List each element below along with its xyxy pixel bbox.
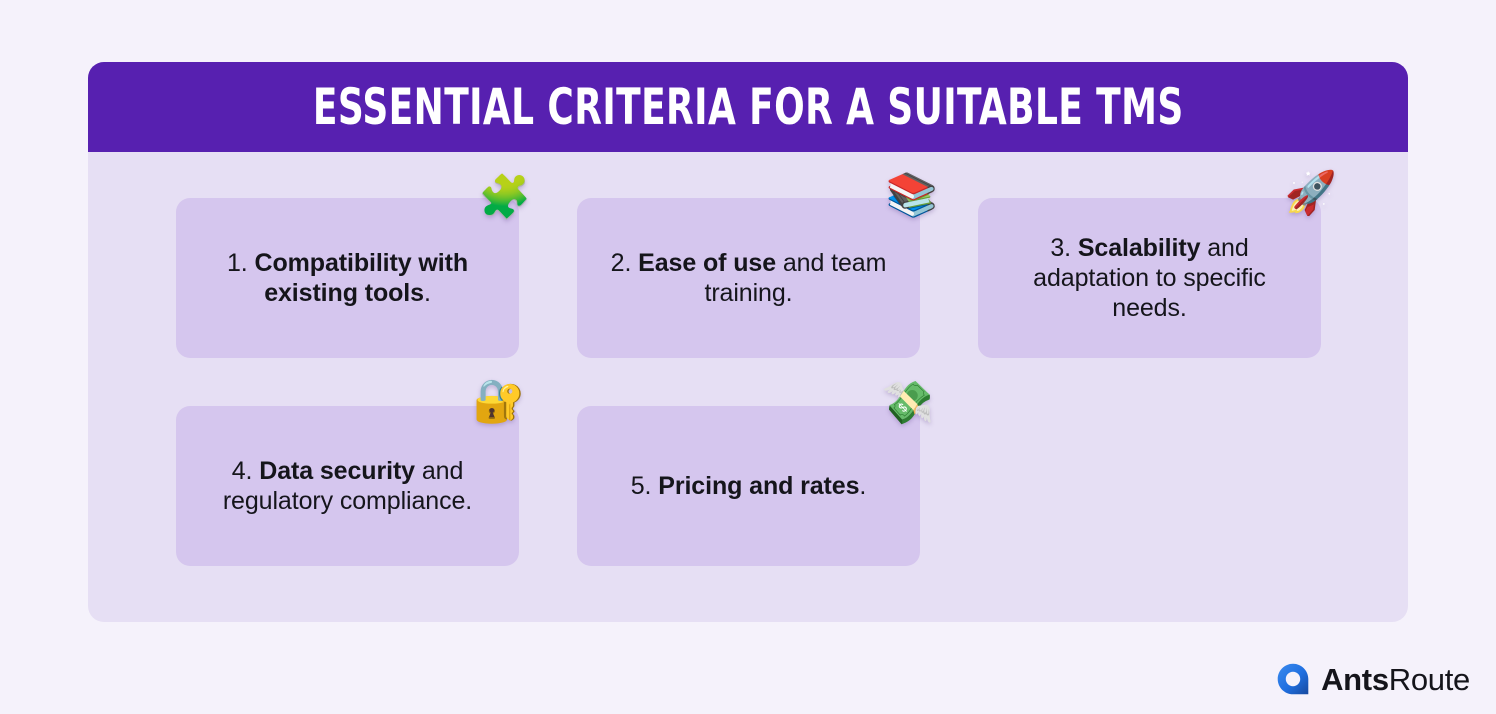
- puzzle-piece-icon: 🧩: [479, 176, 531, 218]
- locked-with-key-icon: 🔐: [473, 380, 525, 422]
- criteria-card-2-number: 2.: [611, 249, 632, 277]
- criteria-card-5-bold: Pricing and rates: [658, 472, 859, 500]
- criteria-card-5-text: 5. Pricing and rates.: [631, 471, 867, 501]
- criteria-card-4-bold: Data security: [259, 457, 415, 485]
- criteria-card-5: 💸 5. Pricing and rates.: [577, 406, 920, 566]
- antsroute-logo: AntsRoute: [1276, 662, 1470, 696]
- antsroute-logo-mark: [1276, 662, 1310, 696]
- criteria-card-1-number: 1.: [227, 249, 248, 277]
- page-title: ESSENTIAL CRITERIA FOR A SUITABLE TMS: [313, 82, 1184, 132]
- criteria-card-1-text: 1. Compatibility with existing tools.: [198, 248, 497, 308]
- criteria-card-3-bold: Scalability: [1078, 234, 1201, 262]
- criteria-card-4-text: 4. Data security and regulatory complian…: [198, 456, 497, 516]
- criteria-card-1: 🧩 1. Compatibility with existing tools.: [176, 198, 519, 358]
- logo-name-bold: Ants: [1321, 662, 1389, 697]
- criteria-card-4: 🔐 4. Data security and regulatory compli…: [176, 406, 519, 566]
- money-with-wings-icon: 💸: [882, 382, 934, 424]
- header-banner: ESSENTIAL CRITERIA FOR A SUITABLE TMS: [88, 62, 1408, 152]
- criteria-card-3-number: 3.: [1050, 234, 1071, 262]
- criteria-card-5-number: 5.: [631, 472, 652, 500]
- criteria-card-5-rest: .: [859, 472, 866, 500]
- criteria-card-3: 🚀 3. Scalability and adaptation to speci…: [978, 198, 1321, 358]
- criteria-card-2-text: 2. Ease of use and team training.: [599, 248, 898, 308]
- criteria-card-4-number: 4.: [232, 457, 253, 485]
- criteria-card-3-text: 3. Scalability and adaptation to specifi…: [1000, 233, 1299, 323]
- criteria-card-grid: 🧩 1. Compatibility with existing tools. …: [176, 198, 1322, 566]
- criteria-card-1-bold: Compatibility with existing tools: [255, 249, 468, 307]
- books-icon: 📚: [886, 174, 938, 216]
- criteria-card-2: 📚 2. Ease of use and team training.: [577, 198, 920, 358]
- antsroute-logo-text: AntsRoute: [1321, 664, 1470, 695]
- criteria-card-2-bold: Ease of use: [638, 249, 776, 277]
- rocket-icon: 🚀: [1285, 172, 1337, 214]
- criteria-card-1-rest: .: [424, 279, 431, 307]
- infographic-panel: ESSENTIAL CRITERIA FOR A SUITABLE TMS 🧩 …: [88, 62, 1408, 622]
- logo-name-regular: Route: [1389, 662, 1470, 697]
